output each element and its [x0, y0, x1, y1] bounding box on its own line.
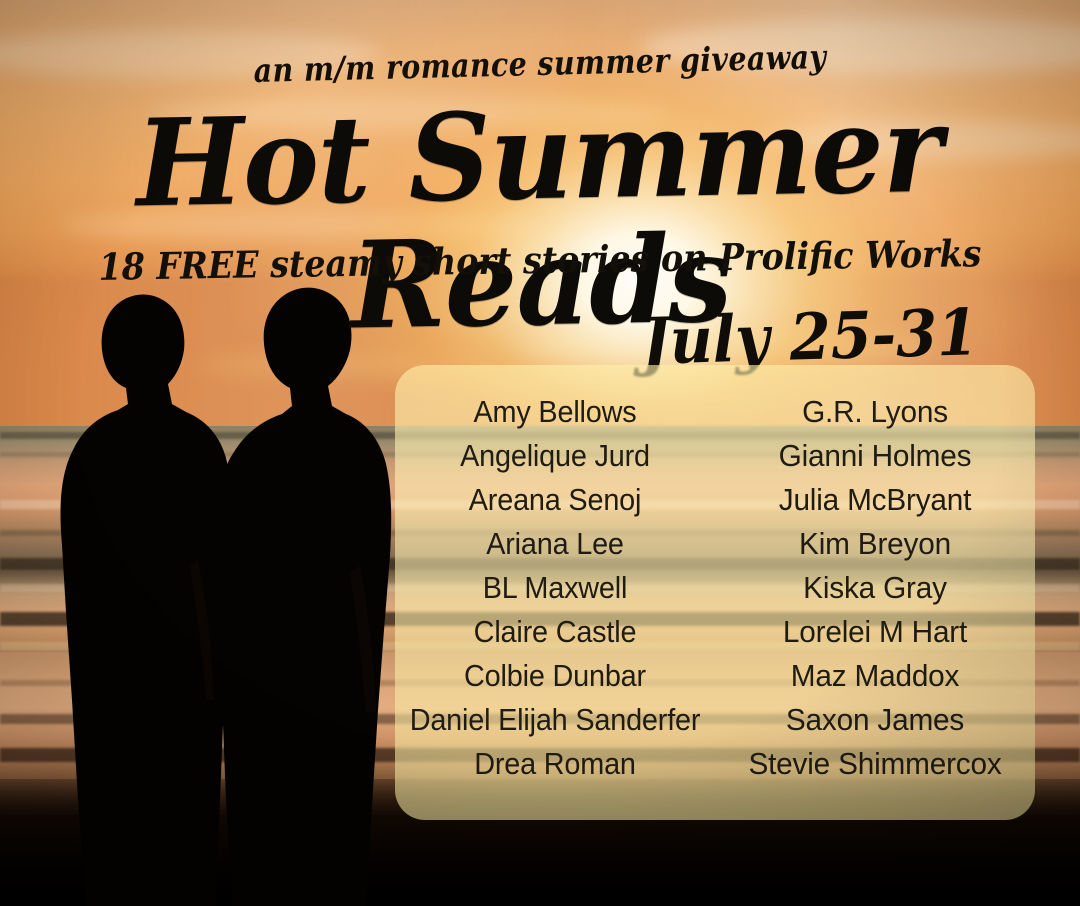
vignette-overlay — [0, 0, 1080, 906]
promotional-poster: an m/m romance summer giveaway Hot Summe… — [0, 0, 1080, 906]
